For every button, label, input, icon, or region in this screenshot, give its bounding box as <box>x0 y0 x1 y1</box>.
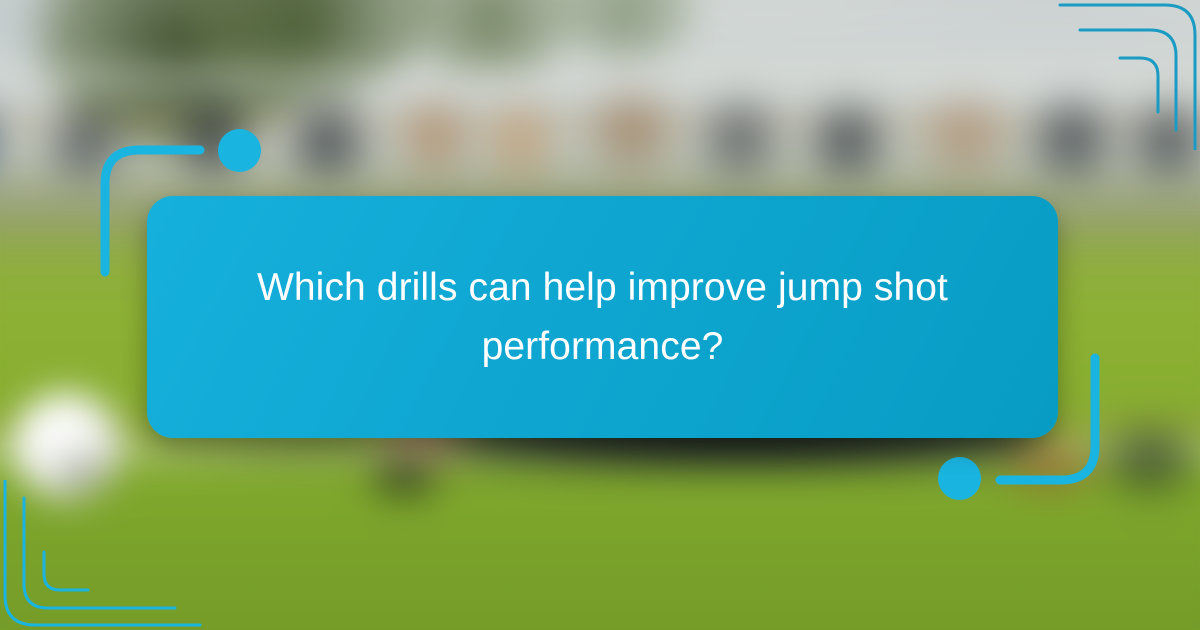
spectator <box>800 91 896 183</box>
spectator <box>170 87 256 183</box>
spectator <box>40 97 132 183</box>
spectator <box>1120 91 1200 183</box>
spectator <box>690 87 790 183</box>
player-dark-right <box>1090 415 1200 505</box>
spectator <box>280 93 376 183</box>
spectator-crowd <box>0 78 1200 183</box>
question-card: Which drills can help improve jump shot … <box>147 196 1058 438</box>
spectator <box>390 87 480 183</box>
ball-shadow <box>52 452 108 492</box>
spectator <box>1020 87 1124 183</box>
share-card-canvas: Which drills can help improve jump shot … <box>0 0 1200 630</box>
spectator <box>476 91 564 183</box>
spectator <box>910 85 1020 183</box>
question-text: Which drills can help improve jump shot … <box>219 258 986 377</box>
player-shoe <box>358 452 450 506</box>
spectator <box>0 91 8 183</box>
spectator <box>580 79 684 183</box>
